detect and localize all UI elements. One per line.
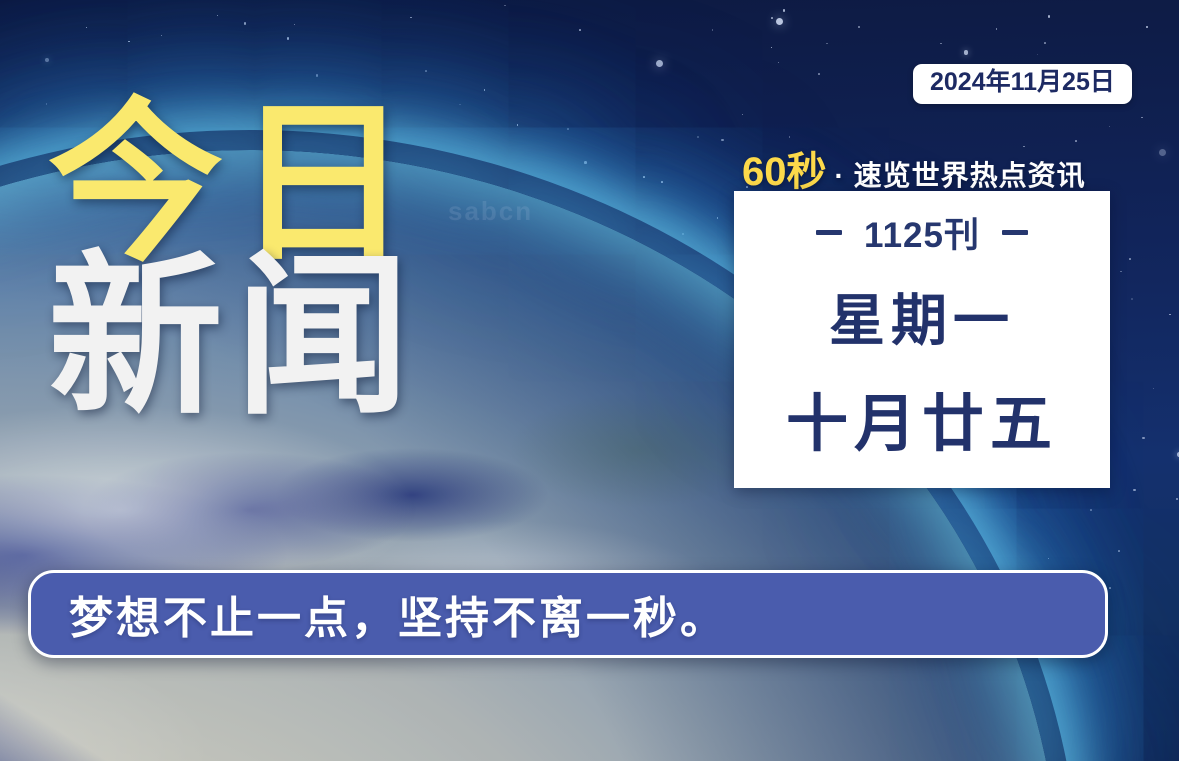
star-dot xyxy=(459,104,461,106)
star-dot xyxy=(1159,149,1166,156)
page-title-line-2: 新闻 xyxy=(48,257,422,418)
star-dot xyxy=(217,15,219,17)
issue-dash-right-icon xyxy=(1002,230,1028,235)
star-dot xyxy=(996,28,998,30)
star-dot xyxy=(656,60,663,67)
star-dot xyxy=(1153,388,1155,390)
star-dot xyxy=(567,128,569,130)
star-dot xyxy=(789,136,791,138)
star-dot xyxy=(294,24,296,26)
star-dot xyxy=(858,26,861,29)
star-dot xyxy=(1169,314,1171,316)
star-dot xyxy=(1142,437,1145,440)
star-dot xyxy=(940,43,942,45)
star-dot xyxy=(964,50,969,55)
star-dot xyxy=(517,124,519,126)
star-dot xyxy=(1109,587,1111,589)
issue-number: 1125刊 xyxy=(864,207,980,258)
star-dot xyxy=(579,29,581,31)
tagline-rest: · 速览世界热点资讯 xyxy=(835,154,1086,194)
star-dot xyxy=(316,74,319,77)
star-dot xyxy=(1037,54,1039,56)
star-dot xyxy=(287,37,290,40)
star-dot xyxy=(244,22,247,25)
tagline: 60秒 · 速览世界热点资讯 xyxy=(742,139,1086,197)
star-dot xyxy=(86,27,88,29)
star-dot xyxy=(1048,558,1050,560)
star-dot xyxy=(1129,258,1131,260)
star-dot xyxy=(818,73,820,75)
info-card: 1125刊 星期一 十月廿五 xyxy=(734,191,1110,488)
star-dot xyxy=(778,62,780,64)
star-dot xyxy=(425,70,427,72)
star-dot xyxy=(697,136,700,139)
star-dot xyxy=(584,161,587,164)
lunar-date-label: 十月廿五 xyxy=(786,373,1058,463)
star-dot xyxy=(643,176,645,178)
star-dot xyxy=(826,43,828,45)
star-dot xyxy=(717,217,719,219)
star-dot xyxy=(1044,42,1046,44)
star-dot xyxy=(1109,126,1111,128)
star-dot xyxy=(682,233,685,236)
star-dot xyxy=(721,139,724,142)
issue-dash-left-icon xyxy=(816,230,842,235)
page-title: 今日 新闻 xyxy=(48,104,422,418)
star-dot xyxy=(742,114,744,116)
star-dot xyxy=(45,58,50,63)
star-dot xyxy=(410,17,412,19)
issue-row: 1125刊 xyxy=(816,207,1028,258)
star-dot xyxy=(712,29,714,31)
star-dot xyxy=(1118,550,1120,552)
star-dot xyxy=(128,41,130,43)
watermark-text: sabcn xyxy=(448,196,533,227)
news-poster: sabcn 2024年11月25日 今日 新闻 60秒 · 速览世界热点资讯 1… xyxy=(0,0,1179,761)
star-dot xyxy=(771,47,773,49)
tagline-highlight: 60秒 xyxy=(742,139,827,197)
star-dot xyxy=(161,35,163,37)
star-dot xyxy=(771,17,773,19)
quote-text: 梦想不止一点，坚持不离一秒。 xyxy=(69,582,727,646)
quote-bar: 梦想不止一点，坚持不离一秒。 xyxy=(28,570,1108,658)
star-dot xyxy=(776,18,783,25)
star-dot xyxy=(1176,498,1179,501)
star-dot xyxy=(1146,26,1149,29)
star-dot xyxy=(783,9,786,12)
date-badge: 2024年11月25日 xyxy=(913,64,1132,104)
star-dot xyxy=(1120,271,1122,273)
star-dot xyxy=(1048,15,1051,18)
star-dot xyxy=(484,89,486,91)
star-dot xyxy=(661,181,663,183)
star-dot xyxy=(1141,117,1143,119)
star-dot xyxy=(1131,298,1133,300)
star-dot xyxy=(1133,489,1136,492)
weekday-label: 星期一 xyxy=(829,276,1015,357)
star-dot xyxy=(504,5,506,7)
star-dot xyxy=(1090,509,1092,511)
